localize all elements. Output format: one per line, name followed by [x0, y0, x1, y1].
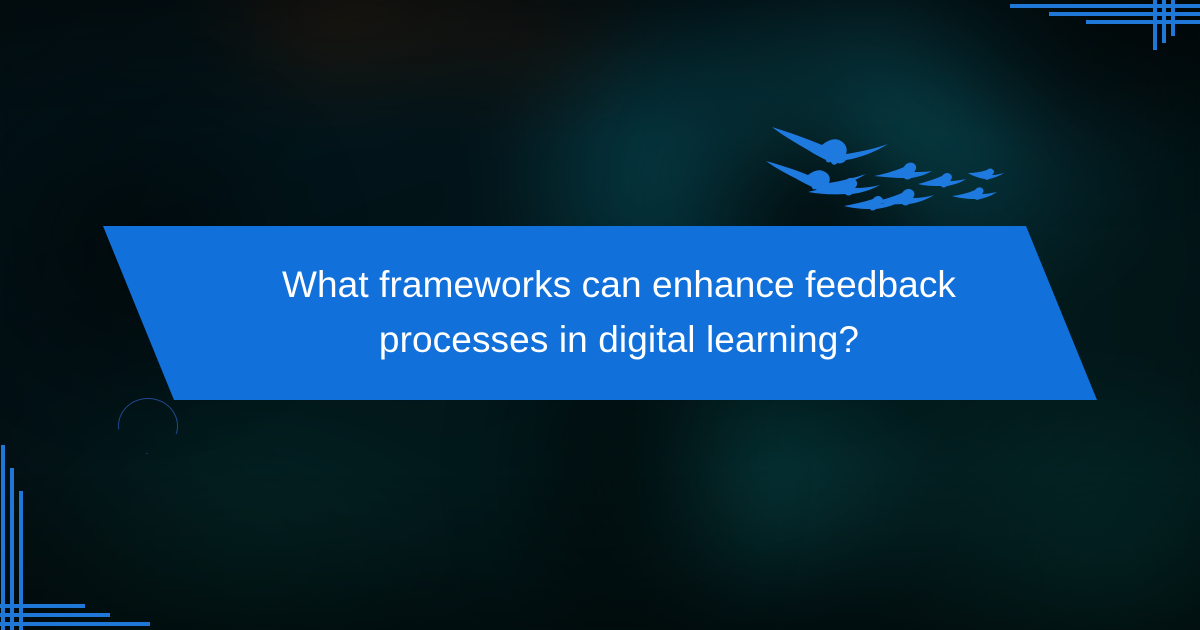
corner-line-horizontal [1049, 12, 1200, 16]
headline-line-2: processes in digital learning? [379, 316, 859, 365]
headline-line-1: What frameworks can enhance feedback [282, 261, 956, 310]
corner-line-horizontal [0, 622, 150, 626]
corner-line-vertical [1162, 0, 1166, 43]
banner-text-block: What frameworks can enhance feedback pro… [0, 226, 1200, 400]
corner-line-vertical [1, 445, 5, 630]
banner-canvas: What frameworks can enhance feedback pro… [0, 0, 1200, 630]
corner-line-vertical [1153, 0, 1157, 50]
corner-line-vertical [1171, 0, 1175, 36]
corner-decoration-top-right [1010, 0, 1200, 120]
corner-line-vertical [19, 491, 23, 630]
headline-banner: What frameworks can enhance feedback pro… [0, 226, 1200, 400]
corner-line-horizontal [1086, 20, 1200, 24]
birds-flock-icon [762, 118, 1012, 230]
corner-line-horizontal [0, 604, 85, 608]
corner-line-horizontal [0, 613, 110, 617]
corner-decoration-bottom-left [0, 430, 150, 630]
